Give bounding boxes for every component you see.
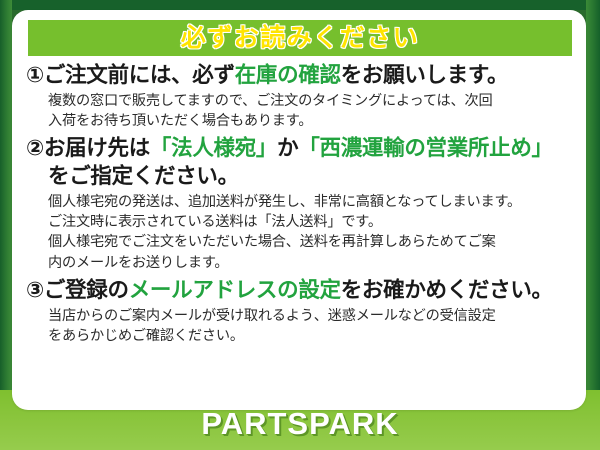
section-3-subline-1: 当店からのご案内メールが受け取れるよう、迷惑メールなどの受信設定	[48, 306, 574, 326]
section-2-subline-1: 個人様宅宛の発送は、追加送料が発生し、非常に高額となってしまいます。	[48, 192, 574, 212]
section-2-heading-line1: ②お届け先は「法人様宛」か「西濃運輸の営業所止め」	[26, 135, 574, 163]
section-3-heading-part2: をお確かめください。	[341, 278, 553, 302]
section-3-subline-2: をあらかじめご確認ください。	[48, 326, 574, 346]
section-1-heading-part2: をお願いします。	[341, 63, 508, 87]
frame-right-border	[586, 0, 600, 398]
section-2-heading-part1: お届け先は	[44, 136, 150, 160]
section-3-subtext: 当店からのご案内メールが受け取れるよう、迷惑メールなどの受信設定 をあらかじめご…	[26, 306, 574, 346]
section-1-heading: ①ご注文前には、必ず在庫の確認をお願いします。	[26, 62, 574, 90]
section-1-subtext: 複数の窓口で販売してますので、ご注文のタイミングによっては、次回 入荷をお待ち頂…	[26, 91, 574, 131]
section-2-heading-highlight-1: 「法人様宛」	[150, 136, 277, 160]
notice-section-2: ②お届け先は「法人様宛」か「西濃運輸の営業所止め」 をご指定ください。 個人様宅…	[26, 135, 574, 273]
section-2-number: ②	[26, 136, 44, 160]
notice-content: ①ご注文前には、必ず在庫の確認をお願いします。 複数の窓口で販売してますので、ご…	[12, 62, 586, 350]
section-2-subtext: 個人様宅宛の発送は、追加送料が発生し、非常に高額となってしまいます。 ご注文時に…	[26, 192, 574, 273]
title-bar: 必ずお読みください	[28, 20, 572, 56]
frame-left-border	[0, 0, 12, 398]
section-3-heading-highlight: メールアドレスの設定	[129, 278, 341, 302]
notice-section-1: ①ご注文前には、必ず在庫の確認をお願いします。 複数の窓口で販売してますので、ご…	[26, 62, 574, 131]
section-1-subline-1: 複数の窓口で販売してますので、ご注文のタイミングによっては、次回	[48, 91, 574, 111]
notice-section-3: ③ご登録のメールアドレスの設定をお確かめください。 当店からのご案内メールが受け…	[26, 277, 574, 346]
brand-footer: PARTSPARK	[0, 398, 600, 450]
section-3-heading-part1: ご登録の	[44, 278, 129, 302]
section-2-subline-2: ご注文時に表示されている送料は「法人送料」です。	[48, 212, 574, 232]
section-2-subline-3: 個人様宅宛でご注文をいただいた場合、送料を再計算しあらためてご案	[48, 232, 574, 252]
section-1-heading-highlight: 在庫の確認	[235, 63, 341, 87]
section-3-heading: ③ご登録のメールアドレスの設定をお確かめください。	[26, 277, 574, 305]
notice-card: 必ずお読みください ①ご注文前には、必ず在庫の確認をお願いします。 複数の窓口で…	[12, 10, 586, 410]
brand-name: PARTSPARK	[201, 406, 398, 442]
page-title: 必ずお読みください	[181, 26, 420, 51]
section-1-heading-part1: ご注文前には、必ず	[44, 63, 235, 87]
frame-top-border	[0, 0, 600, 10]
section-2-heading-mid: か	[277, 136, 298, 160]
notice-banner: 必ずお読みください ①ご注文前には、必ず在庫の確認をお願いします。 複数の窓口で…	[0, 0, 600, 450]
section-1-number: ①	[26, 63, 44, 87]
section-1-subline-2: 入荷をお待ち頂いただく場合もあります。	[48, 111, 574, 131]
section-2-heading-highlight-2: 「西濃運輸の営業所止め」	[298, 136, 552, 160]
section-2-heading-line2: をご指定ください。	[26, 163, 574, 191]
section-3-number: ③	[26, 278, 44, 302]
section-2-subline-4: 内のメールをお送りします。	[48, 253, 574, 273]
